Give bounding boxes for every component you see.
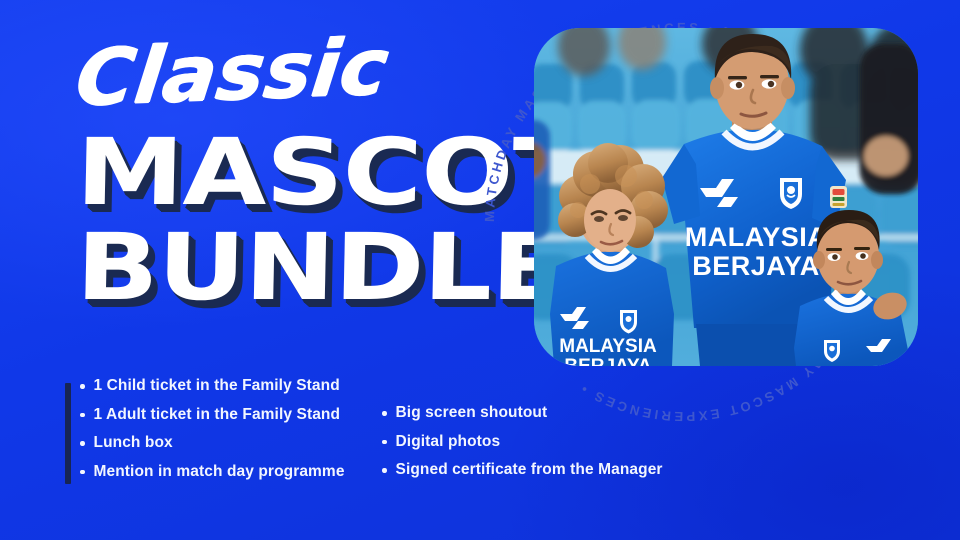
svg-text:BERJAYA: BERJAYA [564, 356, 652, 366]
bullet-dot-icon [382, 411, 387, 416]
accent-bar [65, 383, 71, 484]
bullet-dot-icon [80, 384, 85, 389]
list-item-label: Mention in match day programme [94, 464, 345, 480]
bullet-dot-icon [80, 413, 85, 418]
bullet-dot-icon [382, 440, 387, 445]
svg-text:MALAYSIA: MALAYSIA [559, 336, 657, 357]
svg-text:MALAYSIA: MALAYSIA [685, 222, 828, 252]
list-item: Digital photos [382, 434, 742, 450]
list-item-label: 1 Child ticket in the Family Stand [94, 378, 340, 394]
title-block: Classic MASCOT BUNDLE [72, 34, 502, 364]
title-line-bundle: BUNDLE [75, 229, 565, 306]
list-item: Mention in match day programme [80, 464, 410, 480]
list-item-label: Digital photos [396, 434, 501, 450]
list-item: 1 Child ticket in the Family Stand [80, 378, 410, 394]
bundle-inclusions-list: 1 Child ticket in the Family Stand 1 Adu… [62, 378, 742, 493]
mascot-photo-illustration: MALAYSIA BERJAYA [534, 28, 918, 366]
list-item-label: Signed certificate from the Manager [396, 462, 663, 478]
list-item-label: 1 Adult ticket in the Family Stand [94, 407, 341, 423]
list-item: Lunch box [80, 435, 410, 451]
bullet-dot-icon [382, 468, 387, 473]
list-item: Signed certificate from the Manager [382, 462, 742, 478]
mascot-photo: MALAYSIA BERJAYA [534, 28, 918, 366]
list-item: Big screen shoutout [382, 405, 742, 421]
list-item-label: Lunch box [94, 435, 173, 451]
title-script-word: Classic [72, 28, 392, 118]
bullet-dot-icon [80, 470, 85, 475]
list-item: 1 Adult ticket in the Family Stand [80, 407, 410, 423]
title-line-mascot: MASCOT [75, 134, 586, 211]
bullet-column-right: Big screen shoutout Digital photos Signe… [382, 405, 742, 491]
bullet-column-left: 1 Child ticket in the Family Stand 1 Adu… [80, 378, 410, 492]
list-item-label: Big screen shoutout [396, 405, 548, 421]
poster-canvas: Classic MASCOT BUNDLE 1 Child ticket in … [0, 0, 960, 540]
bullet-dot-icon [80, 441, 85, 446]
svg-text:BERJAYA: BERJAYA [692, 251, 820, 281]
